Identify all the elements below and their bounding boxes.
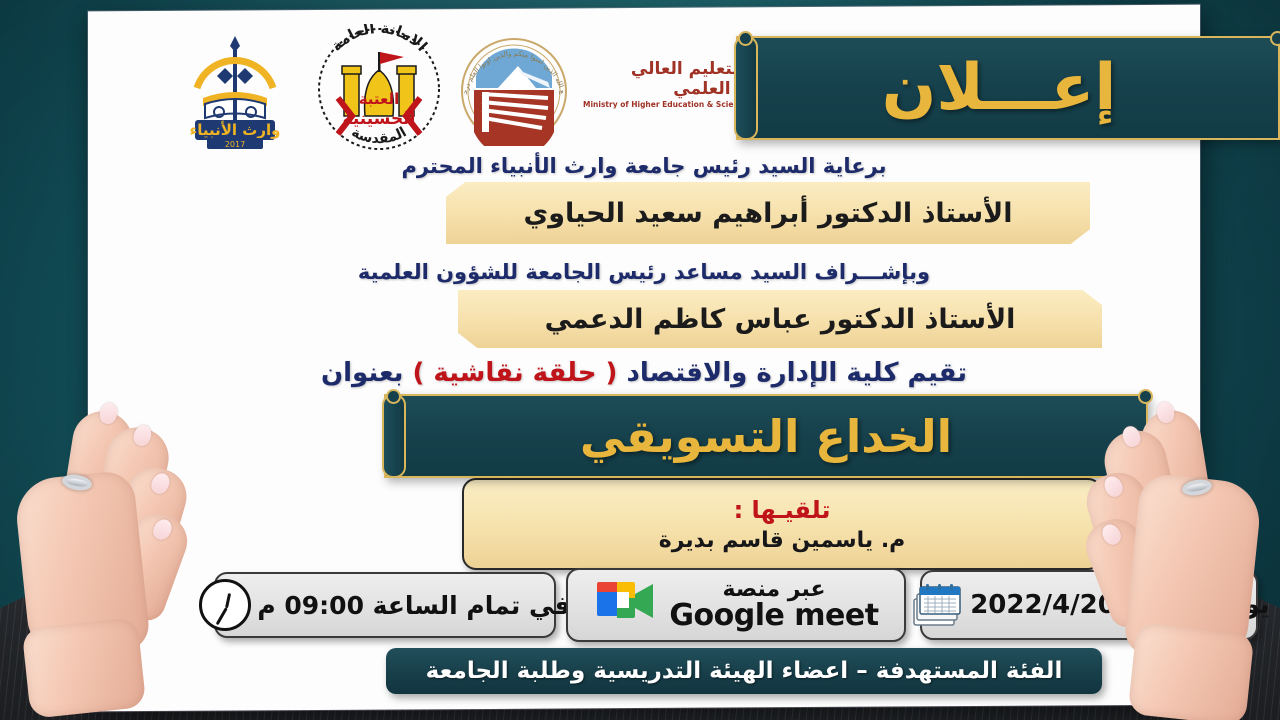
logo-row: UNIVERSITY وارث الأنبياء (88, 14, 748, 154)
event-platform-chip: عبر منصة Google meet (566, 568, 906, 642)
svg-text:الحسينية: الحسينية (343, 109, 416, 129)
al-abbas-holy-shrine-logo: الامانة العامة المقدسة (310, 24, 448, 158)
svg-text:الامانة العامة: الامانة العامة (327, 24, 431, 55)
platform-name: Google meet (669, 601, 878, 631)
svg-text:وارث الأنبياء: وارث الأنبياء (190, 121, 281, 139)
event-time-chip: في تمام الساعة 09:00 م (214, 572, 556, 638)
college-prefix: تقيم كلية الإدارة والاقتصاد (626, 358, 967, 388)
svg-text:2017: 2017 (225, 140, 245, 149)
supervisor-name-plate: الأستاذ الدكتور عباس كاظم الدعمي (458, 290, 1102, 348)
college-suffix: بعنوان (321, 358, 403, 388)
supervisor-name: الأستاذ الدكتور عباس كاظم الدعمي (545, 304, 1016, 335)
event-date-chip: يوم الأربعاء 2022/4/20 (920, 570, 1258, 640)
college-event-line: تقيم كلية الإدارة والاقتصاد ( حلقة نقاشي… (88, 358, 1200, 388)
svg-text:UNIVERSITY: UNIVERSITY (213, 32, 257, 34)
poster-root: UNIVERSITY وارث الأنبياء (0, 0, 1280, 720)
event-time-text: في تمام الساعة 09:00 م (257, 591, 570, 620)
patron-name: الأستاذ الدكتور أبراهيم سعيد الحياوي (523, 198, 1012, 229)
svg-text:العتبة: العتبة (359, 90, 400, 108)
supervisor-intro-line: وبإشـــراف السيد مساعد رئيس الجامعة للشؤ… (88, 260, 1200, 284)
google-meet-icon (593, 578, 657, 632)
target-audience-text: الفئة المستهدفة – اعضاء الهيئة التدريسية… (426, 658, 1063, 684)
university-of-warith-al-anbiyaa-logo: UNIVERSITY وارث الأنبياء (183, 32, 287, 154)
presenter-card: تلقيـها : م. ياسمين قاسم بديرة (462, 478, 1102, 570)
event-type-label: ( حلقة نقاشية ) (412, 358, 617, 388)
presenter-name: م. ياسمين قاسم بديرة (659, 528, 906, 553)
event-date-text: يوم الأربعاء 2022/4/20 (970, 590, 1270, 620)
platform-text-group: عبر منصة Google meet (669, 579, 878, 631)
patron-intro-line: برعاية السيد رئيس جامعة وارث الأنبياء ال… (88, 154, 1200, 178)
seminar-topic: الخداع التسويقي (386, 396, 1146, 476)
calendar-icon (908, 577, 962, 633)
announcement-title-banner: إعـــلان (736, 36, 1280, 140)
patron-name-plate: الأستاذ الدكتور أبراهيم سعيد الحياوي (446, 182, 1090, 244)
presenter-label: تلقيـها : (734, 496, 831, 524)
white-announcement-board: UNIVERSITY وارث الأنبياء (88, 5, 1200, 712)
topic-title-banner: الخداع التسويقي (384, 394, 1148, 478)
target-audience-bar: الفئة المستهدفة – اعضاء الهيئة التدريسية… (386, 648, 1102, 694)
ministry-emblem-icon: يرفع الله الذين امنوا منكم والذين اوتوا … (458, 36, 576, 150)
page-title: إعـــلان (738, 38, 1278, 138)
clock-icon (199, 579, 251, 631)
